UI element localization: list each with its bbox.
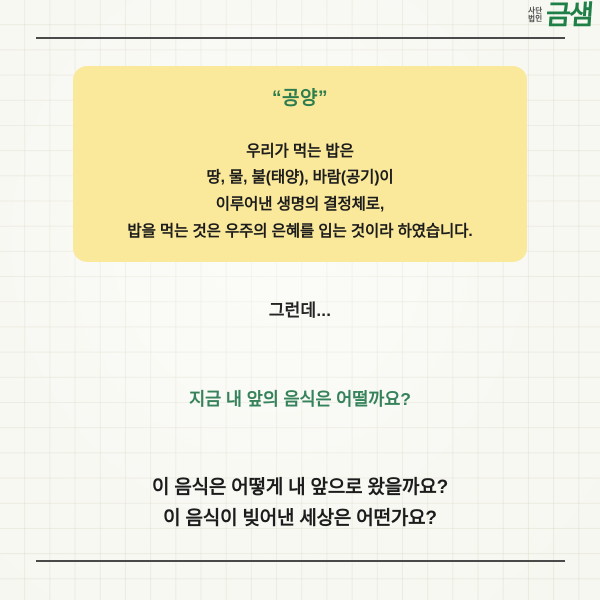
logo-wordmark: 금샘 — [545, 2, 593, 29]
quote-body-line: 밥을 먹는 것은 우주의 은혜를 입는 것이라 하였습니다. — [87, 219, 513, 246]
bottom-divider — [36, 560, 565, 562]
logo-kicker-line-2: 법인 — [528, 15, 542, 23]
quote-title: “공양” — [87, 88, 513, 111]
closing-question-line: 이 음식은 어떻게 내 앞으로 왔을까요? — [0, 473, 600, 504]
quote-panel: “공양” 우리가 먹는 밥은 땅, 물, 불(태양), 바람(공기)이 이루어낸… — [73, 66, 527, 262]
quote-body-line: 이루어낸 생명의 결정체로, — [87, 192, 513, 219]
quote-body-line: 우리가 먹는 밥은 — [87, 139, 513, 166]
closing-questions-group: 이 음식은 어떻게 내 앞으로 왔을까요? 이 음식이 빚어낸 세상은 어떤가요… — [0, 473, 600, 535]
highlight-question-text: 지금 내 앞의 음식은 어떨까요? — [0, 388, 600, 411]
organization-logo: 사단 법인 금샘 — [528, 2, 592, 29]
quote-body-line: 땅, 물, 불(태양), 바람(공기)이 — [87, 165, 513, 192]
logo-kicker-text: 사단 법인 — [528, 7, 542, 25]
transition-text: 그런데... — [0, 300, 600, 322]
top-divider — [36, 37, 565, 39]
card-canvas: 사단 법인 금샘 “공양” 우리가 먹는 밥은 땅, 물, 불(태양), 바람(… — [0, 0, 600, 600]
logo-kicker-line-1: 사단 — [528, 7, 542, 15]
closing-question-line: 이 음식이 빚어낸 세상은 어떤가요? — [0, 504, 600, 535]
narration-block: 그런데... 지금 내 앞의 음식은 어떨까요? 이 음식은 어떻게 내 앞으로… — [0, 300, 600, 534]
